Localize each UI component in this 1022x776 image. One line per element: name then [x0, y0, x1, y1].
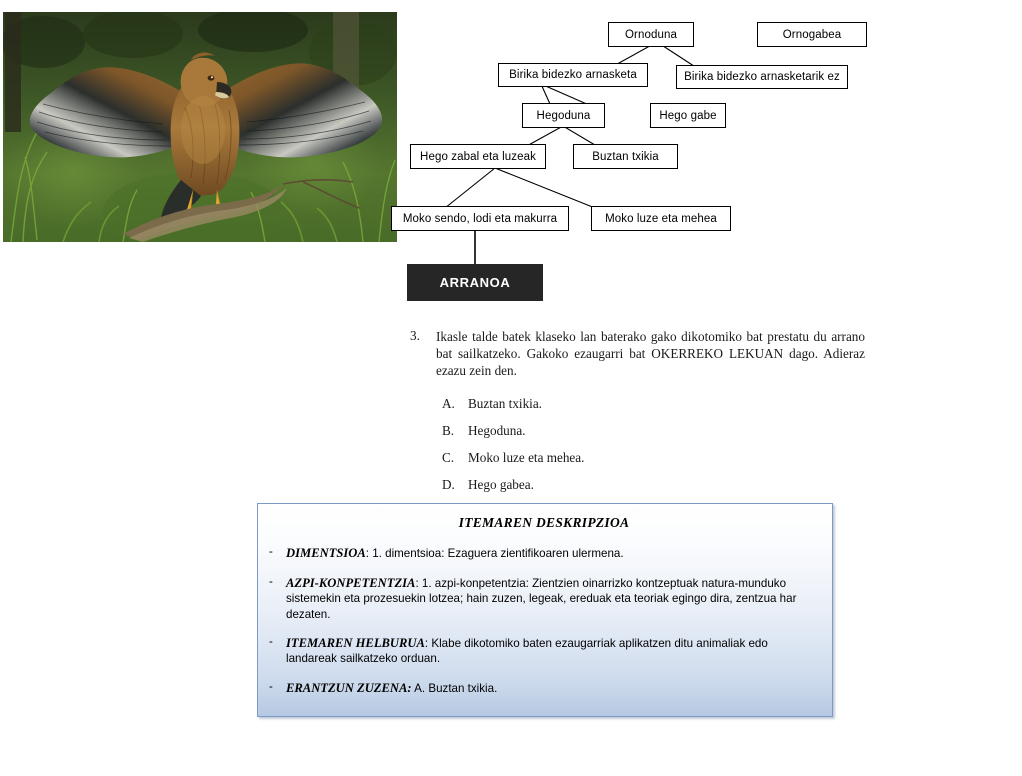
description-item-body: AZPI-KONPETENTZIA: 1. azpi-konpetentzia:… [286, 575, 819, 622]
answer-option-a[interactable]: A. Buztan txikia. [442, 396, 865, 412]
node-birika-bidezko-arnasketarik-ez[interactable]: Birika bidezko arnasketarik ez [676, 65, 848, 89]
description-item-label: ERANTZUN ZUZENA: [286, 681, 412, 695]
node-label: Hego gabe [659, 110, 716, 122]
answer-option-b[interactable]: B. Hegoduna. [442, 423, 865, 439]
description-title: ITEMAREN DESKRIPZIOA [269, 515, 819, 531]
node-moko-sendo-lodi-eta-makurra[interactable]: Moko sendo, lodi eta makurra [391, 206, 569, 231]
description-item-label: DIMENTSIOA [286, 546, 366, 560]
answer-text: Hegoduna. [468, 423, 526, 439]
question-text: Ikasle talde batek klaseko lan baterako … [436, 328, 865, 379]
answer-letter: A. [442, 396, 468, 412]
description-item-body: DIMENTSIOA: 1. dimentsioa: Ezaguera zien… [286, 545, 819, 562]
question-block: 3. Ikasle talde batek klaseko lan batera… [410, 328, 865, 504]
node-label: Hegoduna [537, 110, 591, 122]
bullet-dash: - [269, 680, 286, 697]
node-buztan-txikia[interactable]: Buztan txikia [573, 144, 678, 169]
question-row: 3. Ikasle talde batek klaseko lan batera… [410, 328, 865, 379]
node-hego-zabal-eta-luzeak[interactable]: Hego zabal eta luzeak [410, 144, 546, 169]
node-birika-bidezko-arnasketa[interactable]: Birika bidezko arnasketa [498, 63, 648, 87]
answer-letter: B. [442, 423, 468, 439]
description-item-erantzun-zuzena: - ERANTZUN ZUZENA: A. Buztan txikia. [269, 680, 819, 697]
answer-option-d[interactable]: D. Hego gabea. [442, 477, 865, 493]
node-ornogabea[interactable]: Ornogabea [757, 22, 867, 47]
description-item-itemaren-helburua: - ITEMAREN HELBURUA: Klabe dikotomiko ba… [269, 635, 819, 667]
answer-text: Buztan txikia. [468, 396, 542, 412]
description-item-dimentsioa: - DIMENTSIOA: 1. dimentsioa: Ezaguera zi… [269, 545, 819, 562]
node-moko-luze-eta-mehea[interactable]: Moko luze eta mehea [591, 206, 731, 231]
node-label: Moko sendo, lodi eta makurra [403, 213, 557, 225]
description-item-text: 1. dimentsioa: Ezaguera zientifikoaren u… [369, 547, 624, 560]
eagle-photo-illustration [3, 12, 397, 242]
node-label: Ornogabea [783, 29, 841, 41]
answer-letter: D. [442, 477, 468, 493]
answer-options-list: A. Buztan txikia. B. Hegoduna. C. Moko l… [442, 396, 865, 493]
description-item-label: ITEMAREN HELBURUA [286, 636, 425, 650]
question-number: 3. [410, 328, 436, 379]
node-label: Moko luze eta mehea [605, 213, 717, 225]
node-label: Buztan txikia [592, 151, 659, 163]
node-label: Birika bidezko arnasketarik ez [684, 71, 840, 83]
description-item-azpi-konpetentzia: - AZPI-KONPETENTZIA: 1. azpi-konpetentzi… [269, 575, 819, 622]
bullet-dash: - [269, 545, 286, 562]
answer-letter: C. [442, 450, 468, 466]
answer-option-c[interactable]: C. Moko luze eta mehea. [442, 450, 865, 466]
node-label: Hego zabal eta luzeak [420, 151, 536, 163]
node-ornoduna[interactable]: Ornoduna [608, 22, 694, 47]
eagle-photograph [3, 12, 397, 242]
dichotomous-key-diagram: Ornoduna Ornogabea Birika bidezko arnask… [395, 8, 1015, 308]
bullet-dash: - [269, 635, 286, 667]
node-label: Birika bidezko arnasketa [509, 69, 637, 81]
item-description-panel: ITEMAREN DESKRIPZIOA - DIMENTSIOA: 1. di… [257, 503, 833, 717]
node-label: Ornoduna [625, 29, 677, 41]
node-hego-gabe[interactable]: Hego gabe [650, 103, 726, 128]
bullet-dash: - [269, 575, 286, 622]
answer-text: Moko luze eta mehea. [468, 450, 584, 466]
description-item-body: ERANTZUN ZUZENA: A. Buztan txikia. [286, 680, 819, 697]
description-item-text: A. Buztan txikia. [412, 682, 498, 695]
node-label: ARRANOA [440, 275, 511, 290]
node-arranoa-result[interactable]: ARRANOA [407, 264, 543, 301]
node-hegoduna[interactable]: Hegoduna [522, 103, 605, 128]
description-item-label: AZPI-KONPETENTZIA [286, 576, 415, 590]
answer-text: Hego gabea. [468, 477, 534, 493]
description-item-body: ITEMAREN HELBURUA: Klabe dikotomiko bate… [286, 635, 819, 667]
